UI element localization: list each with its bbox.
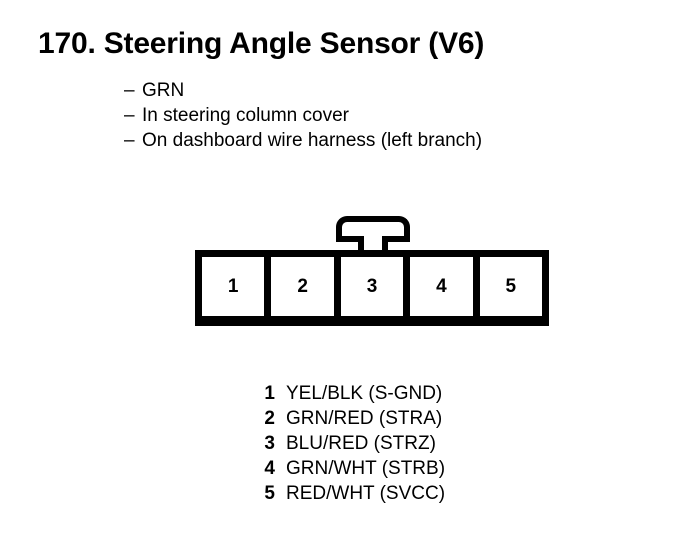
connector-cavity-1: 1 [202, 257, 271, 316]
list-item: –On dashboard wire harness (left branch) [124, 128, 482, 153]
legend-pin-number: 5 [258, 481, 275, 506]
note-text: On dashboard wire harness (left branch) [142, 130, 482, 151]
legend-pin-number: 4 [258, 456, 275, 481]
legend-pin-label: RED/WHT (SVCC) [286, 481, 445, 506]
connector-cavity-2: 2 [271, 257, 340, 316]
legend-row: 1 YEL/BLK (S-GND) [258, 381, 445, 406]
dash-icon: – [124, 103, 142, 128]
cavity-number: 4 [436, 277, 447, 296]
legend-row: 3 BLU/RED (STRZ) [258, 431, 445, 456]
cavity-number: 2 [297, 277, 308, 296]
legend-pin-label: GRN/RED (STRA) [286, 406, 442, 431]
legend-row: 5 RED/WHT (SVCC) [258, 481, 445, 506]
legend-pin-number: 2 [258, 406, 275, 431]
legend-pin-label: GRN/WHT (STRB) [286, 456, 445, 481]
connector-cavity-5: 5 [480, 257, 542, 316]
legend-pin-label: YEL/BLK (S-GND) [286, 381, 442, 406]
cavity-number: 5 [506, 277, 517, 296]
dash-icon: – [124, 128, 142, 153]
legend-pin-number: 1 [258, 381, 275, 406]
cavity-number: 3 [367, 277, 378, 296]
list-item: –GRN [124, 78, 482, 103]
note-text: In steering column cover [142, 105, 349, 126]
connector-body: 1 2 3 4 5 [195, 250, 549, 326]
legend-pin-number: 3 [258, 431, 275, 456]
note-text: GRN [142, 80, 184, 101]
connector-diagram: 1 2 3 4 5 [195, 216, 549, 326]
dash-icon: – [124, 78, 142, 103]
legend-row: 4 GRN/WHT (STRB) [258, 456, 445, 481]
list-item: –In steering column cover [124, 103, 482, 128]
connector-cavity-3: 3 [341, 257, 410, 316]
page-title: 170. Steering Angle Sensor (V6) [38, 27, 484, 61]
cavity-number: 1 [228, 277, 239, 296]
pin-legend: 1 YEL/BLK (S-GND) 2 GRN/RED (STRA) 3 BLU… [258, 381, 445, 506]
connector-cavity-4: 4 [410, 257, 479, 316]
legend-pin-label: BLU/RED (STRZ) [286, 431, 436, 456]
note-list: –GRN –In steering column cover –On dashb… [124, 78, 482, 153]
legend-row: 2 GRN/RED (STRA) [258, 406, 445, 431]
